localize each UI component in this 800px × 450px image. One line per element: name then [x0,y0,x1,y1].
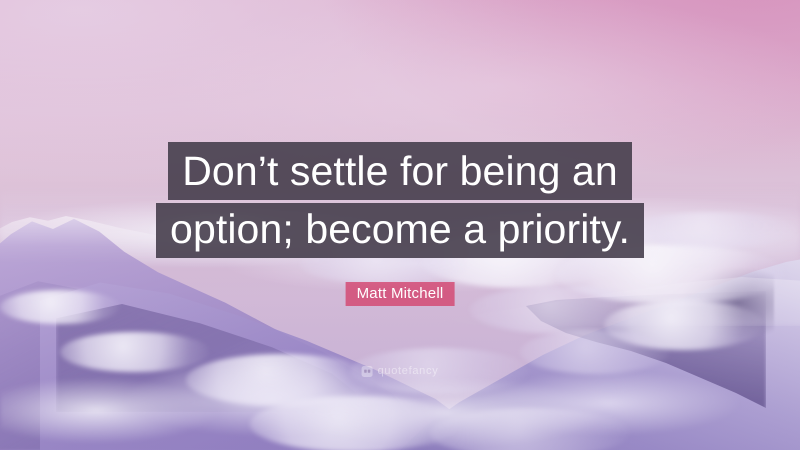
quote-poster: Don’t settle for being an option; become… [0,0,800,450]
lower-cloud-bank [0,336,800,450]
quote-line-1: Don’t settle for being an [168,142,632,200]
quote-text-block: Don’t settle for being an option; become… [0,142,800,258]
watermark-label: quotefancy [378,366,439,377]
quote-mark-icon [362,366,373,377]
quote-line-2: option; become a priority. [156,203,644,258]
quotefancy-watermark: quotefancy [362,366,439,377]
author-badge: Matt Mitchell [346,282,455,306]
